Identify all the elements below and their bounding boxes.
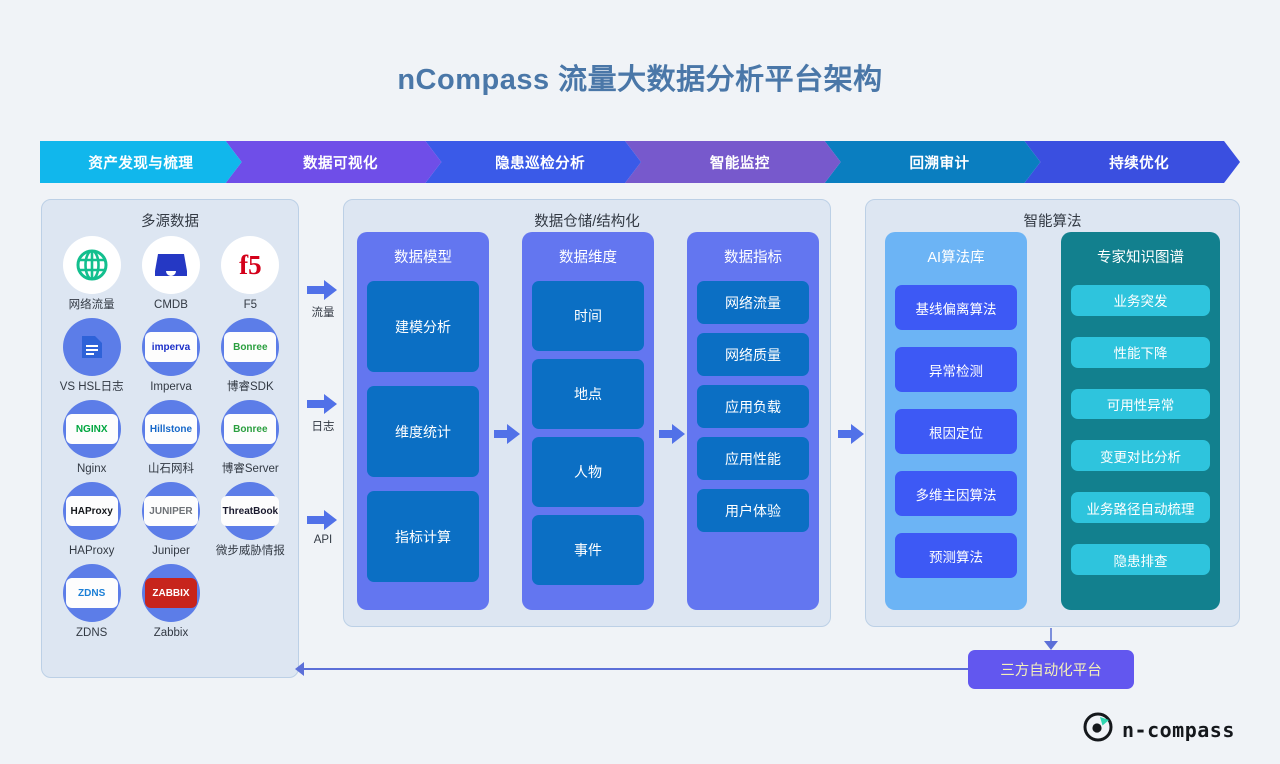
data-source-item[interactable]: f5F5 xyxy=(211,236,290,312)
chip-modeling-analysis[interactable]: 建模分析 xyxy=(367,281,479,372)
data-source-item[interactable]: 网络流量 xyxy=(52,236,131,312)
hillstone-logo-icon: Hillstone xyxy=(142,400,200,458)
stage-arrow-warehouse-to-algorithms xyxy=(838,423,864,450)
inbox-icon xyxy=(142,236,200,294)
third-party-automation-label: 三方自动化平台 xyxy=(1000,659,1102,680)
data-source-item[interactable]: ThreatBook微步威胁情报 xyxy=(211,482,290,558)
card-title: 专家知识图谱 xyxy=(1097,246,1184,267)
data-source-item[interactable]: ZDNSZDNS xyxy=(52,564,131,640)
chip-location[interactable]: 地点 xyxy=(532,359,644,429)
data-source-label: VS HSL日志 xyxy=(52,380,131,394)
chip-risk-investigation[interactable]: 隐患排查 xyxy=(1071,544,1210,575)
data-source-label: ZDNS xyxy=(52,626,131,640)
right-arrow-icon xyxy=(301,392,345,416)
feed-arrow-api: API xyxy=(301,508,345,546)
flow-step-label: 资产发现与梳理 xyxy=(88,152,193,173)
chip-business-burst[interactable]: 业务突发 xyxy=(1071,285,1210,316)
data-source-item[interactable]: VS HSL日志 xyxy=(52,318,131,394)
chip-availability-anomaly[interactable]: 可用性异常 xyxy=(1071,389,1210,420)
data-source-label: 微步威胁情报 xyxy=(211,544,290,558)
logo-chip: Hillstone xyxy=(145,414,197,444)
imperva-logo-icon: imperva xyxy=(142,318,200,376)
data-source-label: F5 xyxy=(211,298,290,312)
juniper-logo-icon: JUNIPER xyxy=(142,482,200,540)
logo-chip: ThreatBook xyxy=(221,496,279,526)
data-source-item[interactable]: Bonree博睿SDK xyxy=(211,318,290,394)
document-icon xyxy=(63,318,121,376)
card-title: 数据模型 xyxy=(394,246,452,267)
flow-step-label: 智能监控 xyxy=(710,152,770,173)
chip-root-cause[interactable]: 根因定位 xyxy=(895,409,1017,454)
stage-arrow-dimension-to-metrics xyxy=(659,423,685,450)
data-source-label: CMDB xyxy=(131,298,210,312)
flow-step-6[interactable]: 持续优化 xyxy=(1024,141,1240,183)
bonree-logo-icon: Bonree xyxy=(221,400,279,458)
chip-performance-degradation[interactable]: 性能下降 xyxy=(1071,337,1210,368)
feed-label: API xyxy=(301,534,345,546)
chip-baseline-deviation[interactable]: 基线偏离算法 xyxy=(895,285,1017,330)
nginx-logo-icon: NGINX xyxy=(63,400,121,458)
logo-chip: NGINX xyxy=(66,414,118,444)
chip-user-experience[interactable]: 用户体验 xyxy=(697,489,809,532)
expert-knowledge-graph-card: 专家知识图谱 业务突发 性能下降 可用性异常 变更对比分析 业务路径自动梳理 隐… xyxy=(1061,232,1220,610)
card-title: AI算法库 xyxy=(927,246,984,267)
chip-app-load[interactable]: 应用负载 xyxy=(697,385,809,428)
data-source-item[interactable]: impervaImperva xyxy=(131,318,210,394)
haproxy-logo-icon: HAProxy xyxy=(63,482,121,540)
feedback-loop-line xyxy=(302,668,968,670)
architecture-diagram: nCompass 流量大数据分析平台架构 资产发现与梳理数据可视化隐患巡检分析智… xyxy=(0,0,1280,764)
globe-icon xyxy=(63,236,121,294)
data-dimension-card: 数据维度 时间 地点 人物 事件 xyxy=(522,232,654,610)
chip-person[interactable]: 人物 xyxy=(532,437,644,507)
compass-icon xyxy=(1083,712,1113,747)
data-sources-title: 多源数据 xyxy=(42,210,298,231)
chip-dimension-stats[interactable]: 维度统计 xyxy=(367,386,479,477)
process-flow-bar: 资产发现与梳理数据可视化隐患巡检分析智能监控回溯审计持续优化 xyxy=(40,141,1240,183)
data-sources-grid: 网络流量CMDBf5F5VS HSL日志impervaImpervaBonree… xyxy=(52,236,290,640)
right-arrow-icon xyxy=(301,508,345,532)
data-source-item[interactable]: Hillstone山石网科 xyxy=(131,400,210,476)
chip-metric-calc[interactable]: 指标计算 xyxy=(367,491,479,582)
chip-change-comparison[interactable]: 变更对比分析 xyxy=(1071,440,1210,471)
flow-step-label: 回溯审计 xyxy=(910,152,970,173)
stage-arrow-model-to-dimension xyxy=(494,423,520,450)
data-source-item[interactable]: HAProxyHAProxy xyxy=(52,482,131,558)
feedback-loop-arrowhead xyxy=(295,662,304,676)
data-source-label: HAProxy xyxy=(52,544,131,558)
data-source-item[interactable]: ZABBIXZabbix xyxy=(131,564,210,640)
data-source-item[interactable]: CMDB xyxy=(131,236,210,312)
data-sources-panel: 多源数据 网络流量CMDBf5F5VS HSL日志impervaImpervaB… xyxy=(41,199,299,678)
data-source-label: Zabbix xyxy=(131,626,210,640)
data-source-item[interactable]: JUNIPERJuniper xyxy=(131,482,210,558)
data-source-label: 网络流量 xyxy=(52,298,131,312)
flow-step-1[interactable]: 资产发现与梳理 xyxy=(40,141,242,183)
algorithm-title: 智能算法 xyxy=(866,210,1239,231)
data-source-item[interactable]: NGINXNginx xyxy=(52,400,131,476)
data-source-item[interactable]: Bonree博睿Server xyxy=(211,400,290,476)
feed-label: 日志 xyxy=(301,418,345,434)
logo-chip: JUNIPER xyxy=(144,496,197,526)
flow-step-2[interactable]: 数据可视化 xyxy=(226,141,442,183)
feed-label: 流量 xyxy=(301,304,345,320)
feedback-connector-arrowhead xyxy=(1044,641,1058,650)
bonree-logo-icon: Bonree xyxy=(221,318,279,376)
chip-app-performance[interactable]: 应用性能 xyxy=(697,437,809,480)
ai-algorithm-library-card: AI算法库 基线偏离算法 异常检测 根因定位 多维主因算法 预测算法 xyxy=(885,232,1027,610)
data-source-label: 山石网科 xyxy=(131,462,210,476)
chip-multidim-cause[interactable]: 多维主因算法 xyxy=(895,471,1017,516)
data-source-label: Imperva xyxy=(131,380,210,394)
logo-chip: ZDNS xyxy=(66,578,118,608)
flow-step-5[interactable]: 回溯审计 xyxy=(825,141,1041,183)
flow-step-3[interactable]: 隐患巡检分析 xyxy=(425,141,641,183)
logo-chip: HAProxy xyxy=(66,496,118,526)
f5-logo-icon: f5 xyxy=(221,236,279,294)
right-arrow-icon xyxy=(301,278,345,302)
logo-chip: imperva xyxy=(145,332,197,362)
feed-arrow-log: 日志 xyxy=(301,392,345,434)
brand-logo: n-compass xyxy=(1083,712,1235,747)
chip-network-traffic[interactable]: 网络流量 xyxy=(697,281,809,324)
chip-anomaly-detection[interactable]: 异常检测 xyxy=(895,347,1017,392)
third-party-automation-box[interactable]: 三方自动化平台 xyxy=(968,650,1134,689)
data-model-card: 数据模型 建模分析 维度统计 指标计算 xyxy=(357,232,489,610)
logo-chip: Bonree xyxy=(224,414,276,444)
flow-step-label: 数据可视化 xyxy=(303,152,378,173)
chip-prediction[interactable]: 预测算法 xyxy=(895,533,1017,578)
card-title: 数据指标 xyxy=(724,246,782,267)
zabbix-logo-icon: ZABBIX xyxy=(142,564,200,622)
chip-event[interactable]: 事件 xyxy=(532,515,644,585)
chip-business-path-discovery[interactable]: 业务路径自动梳理 xyxy=(1071,492,1210,523)
zdns-logo-icon: ZDNS xyxy=(63,564,121,622)
data-metrics-card: 数据指标 网络流量 网络质量 应用负载 应用性能 用户体验 xyxy=(687,232,819,610)
data-source-label: Juniper xyxy=(131,544,210,558)
flow-step-label: 隐患巡检分析 xyxy=(495,152,585,173)
card-title: 数据维度 xyxy=(559,246,617,267)
data-source-label: 博睿Server xyxy=(211,462,290,476)
flow-step-4[interactable]: 智能监控 xyxy=(625,141,841,183)
page-title: nCompass 流量大数据分析平台架构 xyxy=(0,56,1280,98)
chip-time[interactable]: 时间 xyxy=(532,281,644,351)
data-warehouse-title: 数据仓储/结构化 xyxy=(344,210,830,231)
feed-arrow-traffic: 流量 xyxy=(301,278,345,320)
threatbook-logo-icon: ThreatBook xyxy=(221,482,279,540)
data-source-label: 博睿SDK xyxy=(211,380,290,394)
brand-logo-text: n-compass xyxy=(1122,718,1235,742)
logo-chip: Bonree xyxy=(224,332,276,362)
chip-network-quality[interactable]: 网络质量 xyxy=(697,333,809,376)
logo-chip: ZABBIX xyxy=(145,578,197,608)
data-source-label: Nginx xyxy=(52,462,131,476)
flow-step-label: 持续优化 xyxy=(1109,152,1169,173)
